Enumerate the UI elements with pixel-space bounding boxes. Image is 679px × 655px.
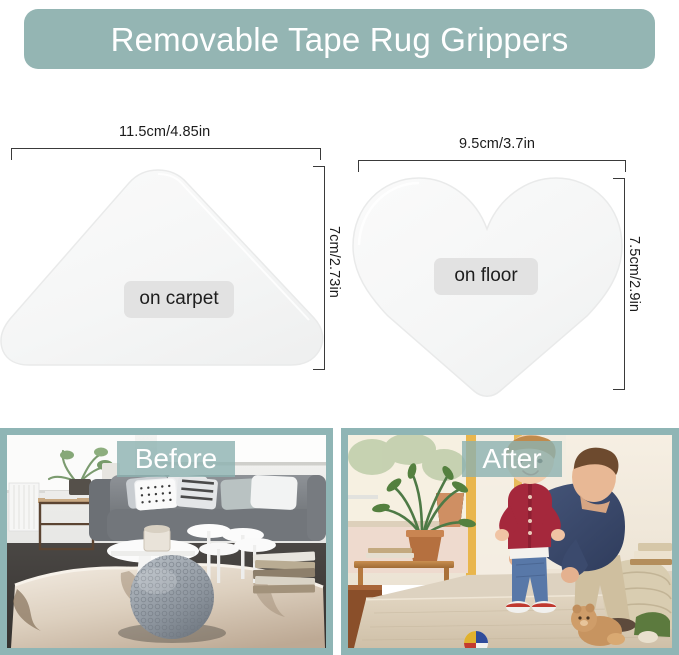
- heart-width-bracket: [358, 160, 626, 172]
- triangle-gripper-chip-label: on carpet: [139, 288, 218, 310]
- before-photo-tag: Before: [117, 441, 235, 477]
- page-title-banner: Removable Tape Rug Grippers: [24, 9, 655, 69]
- heart-gripper-chip: on floor: [434, 258, 538, 295]
- triangle-height-bracket: [313, 166, 325, 370]
- before-photo: Before: [0, 428, 333, 655]
- heart-width-label: 9.5cm/3.7in: [459, 136, 535, 152]
- before-after-comparison: Before: [0, 428, 679, 655]
- after-photo-tag-label: After: [482, 445, 541, 473]
- after-photo-tag: After: [462, 441, 562, 477]
- product-spec-heart-gripper: 9.5cm/3.7in on floor 7.5cm/2.9in: [340, 118, 679, 408]
- triangle-width-bracket: [11, 148, 321, 160]
- page-title: Removable Tape Rug Grippers: [111, 23, 569, 56]
- heart-gripper-chip-label: on floor: [454, 265, 517, 287]
- before-photo-tag-label: Before: [135, 445, 218, 473]
- product-specs-section: 11.5cm/4.85in on carpet 7cm/2.73in 9.5cm…: [0, 118, 679, 408]
- triangle-gripper-shape: [0, 166, 336, 372]
- heart-height-bracket: [613, 178, 625, 390]
- after-photo: After: [341, 428, 679, 655]
- product-spec-triangle-gripper: 11.5cm/4.85in on carpet 7cm/2.73in: [0, 118, 340, 408]
- triangle-gripper-chip: on carpet: [124, 281, 234, 318]
- triangle-width-label: 11.5cm/4.85in: [119, 124, 210, 140]
- heart-height-label: 7.5cm/2.9in: [626, 236, 642, 312]
